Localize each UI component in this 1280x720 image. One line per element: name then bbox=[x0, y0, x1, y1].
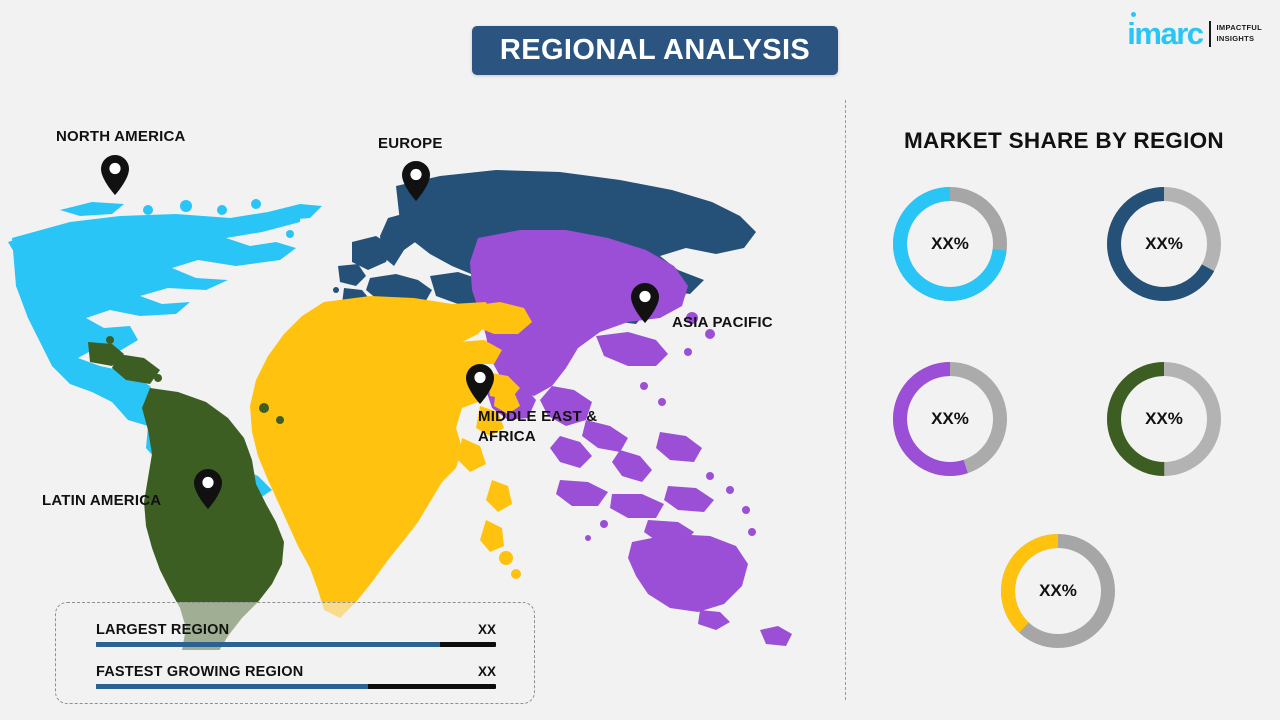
map-region-middle-east-africa bbox=[250, 296, 532, 618]
legend-bar-largest-region bbox=[96, 642, 496, 647]
panel-divider bbox=[845, 100, 846, 700]
map-label-north-america: NORTH AMERICA bbox=[56, 127, 186, 147]
legend-value-largest-region: XX bbox=[478, 622, 496, 637]
map-label-middle-east-africa: MIDDLE EAST & AFRICA bbox=[478, 407, 597, 448]
logo-divider bbox=[1209, 21, 1211, 47]
donut-latin-america: XX% bbox=[1100, 355, 1228, 483]
page-title: REGIONAL ANALYSIS bbox=[500, 34, 810, 67]
map-label-latin-america: LATIN AMERICA bbox=[42, 491, 161, 511]
map-label-asia-pacific: ASIA PACIFIC bbox=[672, 313, 773, 333]
logo-word-text: imarc bbox=[1127, 16, 1202, 51]
legend-label-fastest-growing-region: FASTEST GROWING REGION bbox=[96, 664, 303, 680]
map-pin-europe[interactable] bbox=[401, 160, 431, 202]
market-share-title: MARKET SHARE BY REGION bbox=[848, 128, 1280, 154]
legend-label-largest-region: LARGEST REGION bbox=[96, 622, 229, 638]
legend-bar-fastest-growing-region bbox=[96, 684, 496, 689]
legend-value-fastest-growing-region: XX bbox=[478, 664, 496, 679]
imarc-logo: imarc IMPACTFUL INSIGHTS bbox=[1127, 18, 1262, 49]
donut-label-latin-america: XX% bbox=[1100, 355, 1228, 483]
map-pin-latin-america[interactable] bbox=[193, 468, 223, 510]
donut-asia-pacific: XX% bbox=[886, 355, 1014, 483]
logo-tagline-line1: IMPACTFUL bbox=[1217, 23, 1262, 34]
market-share-panel: MARKET SHARE BY REGION XX% XX% XX% XX% X… bbox=[848, 95, 1280, 720]
map-pin-asia-pacific[interactable] bbox=[630, 282, 660, 324]
donut-label-europe: XX% bbox=[1100, 180, 1228, 308]
donut-label-asia-pacific: XX% bbox=[886, 355, 1014, 483]
donut-label-north-america: XX% bbox=[886, 180, 1014, 308]
logo-tagline: IMPACTFUL INSIGHTS bbox=[1217, 23, 1262, 45]
region-summary-box: LARGEST REGION XX FASTEST GROWING REGION… bbox=[55, 602, 535, 704]
legend-bar-fill-largest-region bbox=[96, 642, 440, 647]
legend-row-fastest-growing-region: FASTEST GROWING REGION XX bbox=[96, 664, 496, 689]
map-label-europe: EUROPE bbox=[378, 134, 443, 154]
map-pin-north-america[interactable] bbox=[100, 154, 130, 196]
donut-label-middle-east-africa: XX% bbox=[994, 527, 1122, 655]
page-title-banner: REGIONAL ANALYSIS bbox=[472, 26, 838, 75]
logo-wordmark: imarc bbox=[1127, 18, 1202, 49]
donut-north-america: XX% bbox=[886, 180, 1014, 308]
legend-bar-fill-fastest-growing-region bbox=[96, 684, 368, 689]
map-pin-middle-east-africa[interactable] bbox=[465, 363, 495, 405]
legend-row-largest-region: LARGEST REGION XX bbox=[96, 622, 496, 647]
donut-europe: XX% bbox=[1100, 180, 1228, 308]
logo-tagline-line2: INSIGHTS bbox=[1217, 34, 1262, 45]
donut-middle-east-africa: XX% bbox=[994, 527, 1122, 655]
